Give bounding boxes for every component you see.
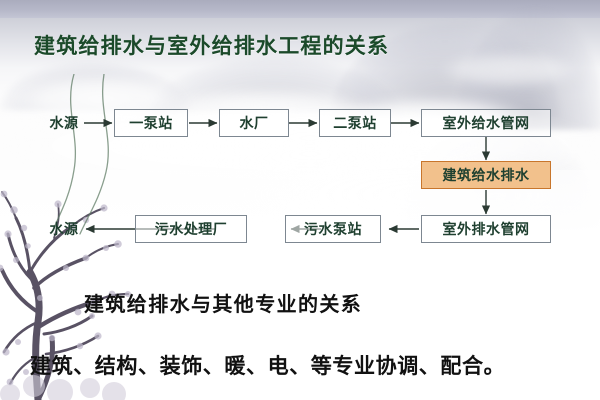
flow-node-water-plant[interactable]: 水厂	[219, 109, 289, 137]
flow-node-pump-station-1[interactable]: 一泵站	[114, 109, 188, 137]
flow-node-pump-station-2[interactable]: 二泵站	[319, 109, 391, 137]
flow-node-outdoor-water-supply-network[interactable]: 室外给水管网	[421, 109, 551, 137]
flow-node-source-drain[interactable]: 水源	[42, 215, 86, 243]
diagram-connectors	[0, 0, 600, 400]
slide-canvas: 建筑给排水与室外给排水工程的关系 建筑给排水与其他专业的关系 建筑、结构、装饰、…	[0, 0, 600, 400]
flow-node-label: 二泵站	[333, 113, 377, 133]
flow-node-label: 水源	[50, 113, 79, 133]
flow-node-label: 建筑给水排水	[443, 165, 530, 185]
flow-node-label: 室外给水管网	[443, 113, 530, 133]
flow-diagram: 水源 一泵站 水厂 二泵站 室外给水管网 建筑给水排水 水源 污水处理厂 污水泵…	[0, 0, 600, 400]
flow-node-outdoor-drainage-network[interactable]: 室外排水管网	[421, 215, 551, 243]
flow-node-label: 一泵站	[129, 113, 173, 133]
flow-node-sewage-treatment-plant[interactable]: 污水处理厂	[135, 215, 247, 243]
flow-node-label: 水厂	[240, 113, 269, 133]
flow-node-sewage-pump-station[interactable]: 污水泵站	[285, 215, 381, 243]
flow-node-label: 污水处理厂	[155, 219, 228, 239]
flow-node-label: 水源	[50, 219, 79, 239]
flow-node-label: 污水泵站	[304, 219, 362, 239]
flow-node-label: 室外排水管网	[443, 219, 530, 239]
flow-node-source-supply[interactable]: 水源	[42, 109, 86, 137]
flow-node-building-water-supply-drainage[interactable]: 建筑给水排水	[421, 161, 551, 189]
